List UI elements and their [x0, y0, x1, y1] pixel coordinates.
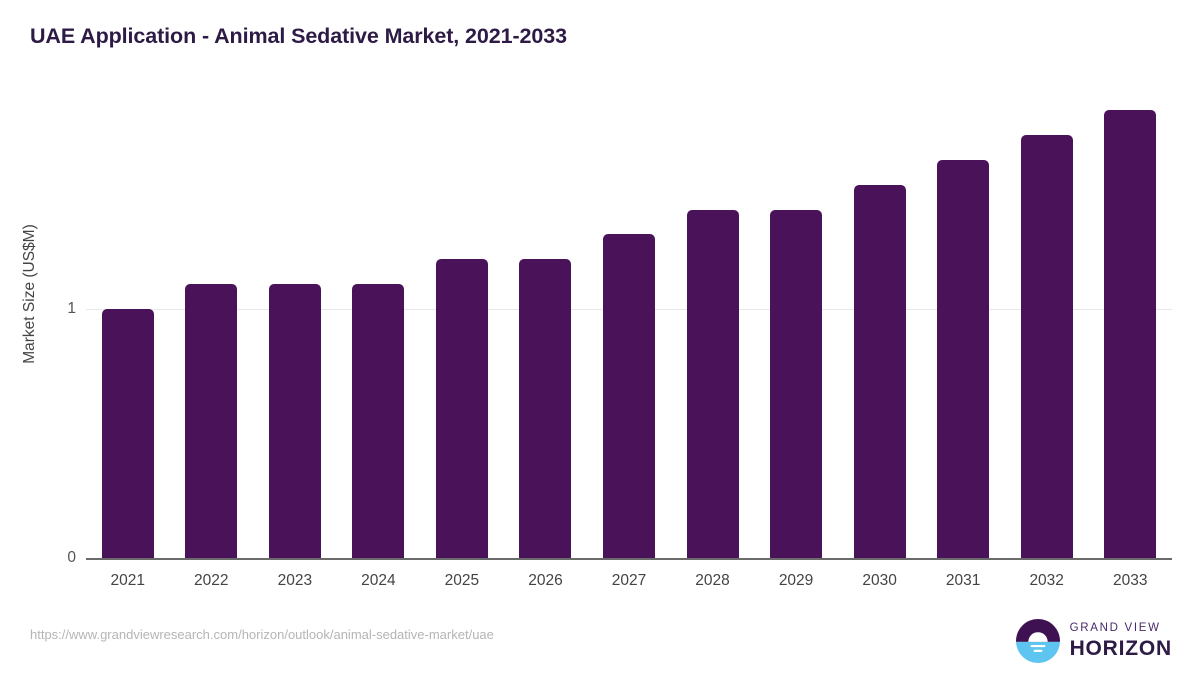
- y-tick-label-1: 1: [56, 300, 76, 318]
- x-tick-label-2021: 2021: [86, 572, 170, 590]
- bar-rect-2022[interactable]: [185, 284, 237, 558]
- brand-name-bottom: HORIZON: [1070, 638, 1172, 659]
- y-axis-title: Market Size (US$M): [21, 84, 39, 504]
- y-tick-label-0: 0: [56, 549, 76, 567]
- bar-2029[interactable]: [770, 95, 822, 558]
- bar-2023[interactable]: [269, 95, 321, 558]
- source-url[interactable]: https://www.grandviewresearch.com/horizo…: [30, 627, 494, 642]
- x-tick-label-2027: 2027: [587, 572, 671, 590]
- bar-2031[interactable]: [937, 95, 989, 558]
- bar-2030[interactable]: [854, 95, 906, 558]
- x-axis: 2021202220232024202520262027202820292030…: [86, 566, 1172, 596]
- bar-2026[interactable]: [519, 95, 571, 558]
- x-tick-label-2031: 2031: [921, 572, 1005, 590]
- bar-rect-2021[interactable]: [102, 309, 154, 558]
- bar-2024[interactable]: [352, 95, 404, 558]
- bar-2032[interactable]: [1021, 95, 1073, 558]
- page-title: UAE Application - Animal Sedative Market…: [30, 24, 567, 49]
- bar-rect-2032[interactable]: [1021, 135, 1073, 558]
- bar-2021[interactable]: [102, 95, 154, 558]
- bar-series: [86, 95, 1172, 558]
- x-tick-label-2025: 2025: [420, 572, 504, 590]
- x-tick-label-2028: 2028: [671, 572, 755, 590]
- bar-rect-2031[interactable]: [937, 160, 989, 558]
- brand-name-top: GRAND VIEW: [1070, 623, 1172, 635]
- bar-rect-2028[interactable]: [687, 210, 739, 558]
- brand-text: GRAND VIEW HORIZON: [1070, 623, 1172, 659]
- bar-rect-2029[interactable]: [770, 210, 822, 558]
- x-tick-label-2030: 2030: [838, 572, 922, 590]
- bar-rect-2027[interactable]: [603, 234, 655, 558]
- x-axis-line: [86, 558, 1172, 560]
- horizon-circle-icon: [1016, 619, 1060, 663]
- x-tick-label-2022: 2022: [170, 572, 254, 590]
- x-tick-label-2026: 2026: [504, 572, 588, 590]
- chart-page: UAE Application - Animal Sedative Market…: [0, 0, 1200, 675]
- bar-rect-2024[interactable]: [352, 284, 404, 558]
- brand-logo: GRAND VIEW HORIZON: [1016, 619, 1172, 663]
- x-tick-label-2023: 2023: [253, 572, 337, 590]
- bar-rect-2026[interactable]: [519, 259, 571, 558]
- bar-2033[interactable]: [1104, 95, 1156, 558]
- bar-2027[interactable]: [603, 95, 655, 558]
- bar-rect-2025[interactable]: [436, 259, 488, 558]
- x-tick-label-2032: 2032: [1005, 572, 1089, 590]
- bar-rect-2030[interactable]: [854, 185, 906, 558]
- bar-2025[interactable]: [436, 95, 488, 558]
- x-tick-label-2029: 2029: [754, 572, 838, 590]
- bar-2022[interactable]: [185, 95, 237, 558]
- bar-rect-2023[interactable]: [269, 284, 321, 558]
- x-tick-label-2024: 2024: [337, 572, 421, 590]
- bar-rect-2033[interactable]: [1104, 110, 1156, 558]
- x-tick-label-2033: 2033: [1088, 572, 1172, 590]
- bar-2028[interactable]: [687, 95, 739, 558]
